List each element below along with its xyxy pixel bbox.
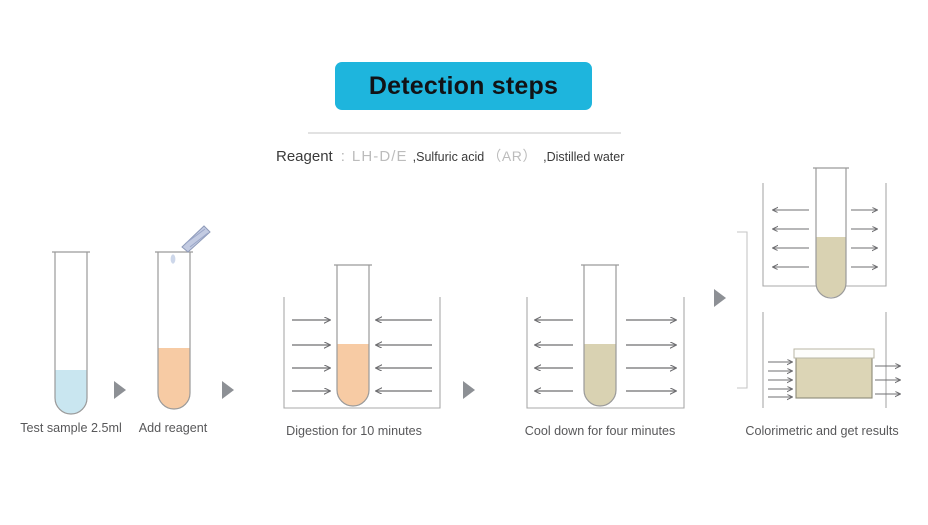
separator-arrow-4 [714, 289, 726, 307]
cool-arrows-right [851, 210, 877, 267]
separator-arrow-2 [222, 381, 234, 399]
cool-arrows-right [626, 320, 676, 391]
light-beams-in [768, 362, 792, 397]
tube-liquid-digested [336, 344, 370, 414]
light-beams-out [875, 366, 900, 394]
separator-arrow-1 [114, 381, 126, 399]
colorimetric-upper-panel [763, 168, 886, 298]
illustration-layer [0, 0, 928, 525]
caption-colorimetric: Colorimetric and get results [735, 424, 909, 438]
caption-digestion: Digestion for 10 minutes [278, 424, 430, 438]
cuvette-liquid [796, 357, 872, 398]
step-add-reagent [155, 226, 210, 418]
colorimetric-lower-panel [763, 312, 900, 408]
heat-arrows-right [376, 320, 432, 391]
cuvette-top [794, 349, 874, 358]
detection-steps-infographic: Detection steps Reagent : LH-D/E ,Sulfur… [0, 0, 928, 525]
pipette-icon [182, 226, 210, 252]
cool-arrows-left [773, 210, 809, 267]
caption-cool-down: Cool down for four minutes [519, 424, 681, 438]
caption-add-reagent: Add reagent [105, 421, 241, 435]
droplet-icon [171, 254, 176, 263]
cool-arrows-left [535, 320, 573, 391]
step-test-sample [52, 252, 90, 420]
tube-liquid-cooled [583, 344, 617, 414]
tube-liquid-cooled [815, 237, 847, 297]
step-colorimetric [737, 168, 900, 408]
tube-liquid-sample [54, 370, 88, 420]
step-digestion [284, 265, 440, 414]
step-cool-down [527, 265, 684, 414]
bracket-connector [737, 232, 747, 388]
tube-liquid-reagent [157, 348, 191, 418]
separator-arrow-3 [463, 381, 475, 399]
heat-arrows-left [292, 320, 330, 391]
